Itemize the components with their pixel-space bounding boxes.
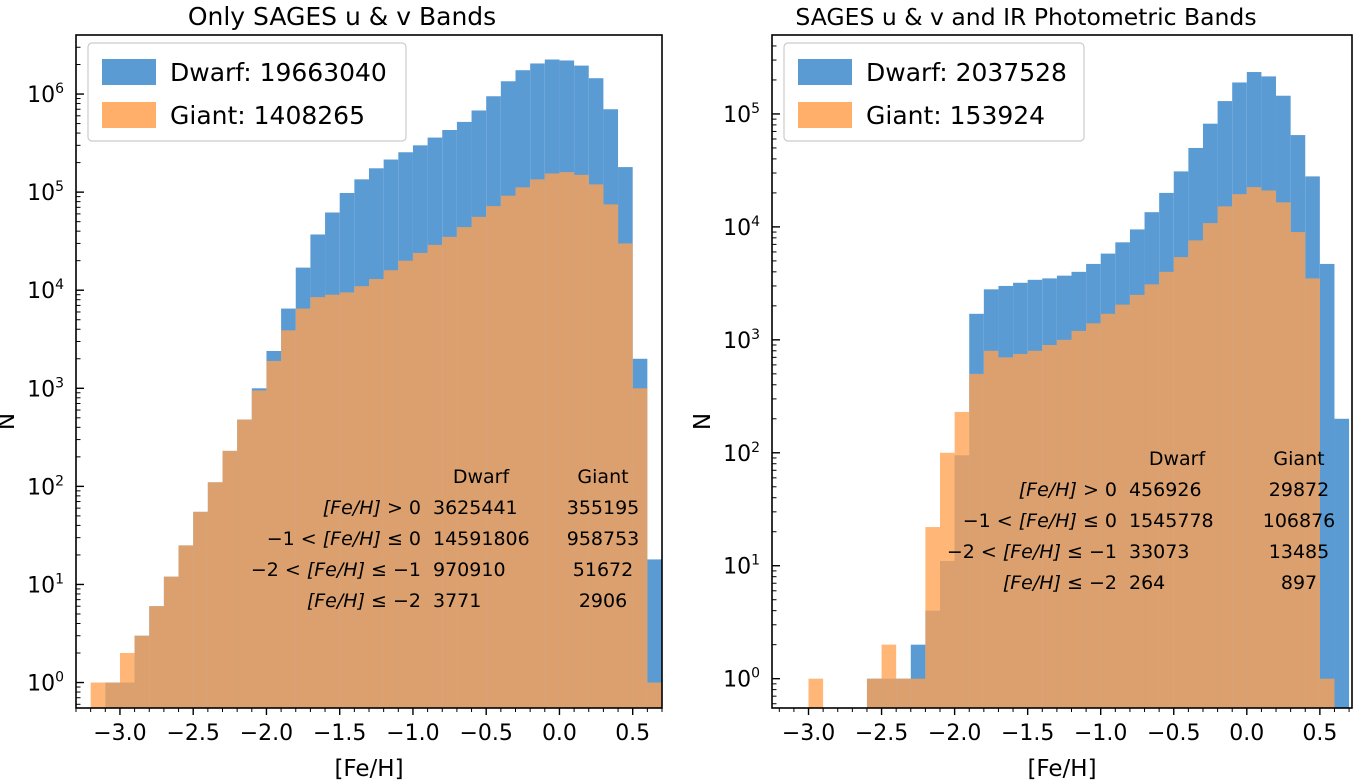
- bar-giant: [545, 173, 560, 708]
- x-axis-label: [Fe/H]: [1027, 756, 1096, 781]
- bar-giant: [896, 679, 911, 708]
- legend-label-giant: Giant: 1408265: [170, 101, 365, 130]
- bar-giant: [1320, 679, 1335, 708]
- bar-giant: [867, 679, 882, 708]
- bar-giant: [237, 420, 252, 708]
- x-tick-label: −1.0: [386, 721, 439, 746]
- legend-label-giant: Giant: 153924: [866, 101, 1045, 130]
- annotation-row-dwarf: 264: [1129, 572, 1165, 594]
- bar-giant: [486, 206, 501, 708]
- x-tick-label: −1.0: [1074, 721, 1127, 746]
- y-tick-label: 102: [723, 440, 760, 467]
- annotation-row-label: [Fe/H] > 0: [323, 497, 421, 519]
- annotation-row-label: [Fe/H] > 0: [1019, 479, 1117, 501]
- y-tick-label: 103: [723, 327, 760, 354]
- legend-label-dwarf: Dwarf: 2037528: [866, 58, 1067, 87]
- annotation-row-label: −1 < [Fe/H] ≤ 0: [267, 528, 421, 550]
- x-tick-label: −2.0: [240, 721, 293, 746]
- y-tick-label: 100: [723, 666, 760, 693]
- bar-giant: [574, 175, 589, 708]
- y-tick-label: 100: [27, 670, 64, 697]
- x-tick-label: −3.0: [93, 721, 146, 746]
- bar-giant: [925, 527, 940, 708]
- bar-giant: [398, 261, 413, 708]
- bar-giant: [516, 187, 531, 708]
- y-axis-label: N: [690, 413, 716, 430]
- figure-container: Only SAGES u & v Bands −3.0−2.5−2.0−1.5−…: [0, 0, 1368, 781]
- annotation-row-label: −2 < [Fe/H] ≤ −1: [251, 559, 421, 581]
- legend[interactable]: Dwarf: 19663040Giant: 1408265: [88, 43, 406, 141]
- y-tick-label: 104: [27, 277, 64, 304]
- annotation-row-dwarf: 1545778: [1129, 510, 1214, 532]
- annotation-row-dwarf: 456926: [1129, 479, 1202, 501]
- annotation-header-dwarf: Dwarf: [453, 466, 511, 488]
- bar-giant: [882, 645, 897, 708]
- panel-right-plot: −3.0−2.5−2.0−1.5−1.0−0.50.00.5[Fe/H]1001…: [684, 0, 1368, 781]
- annotation-row-giant: 29872: [1269, 479, 1329, 501]
- bar-giant: [1130, 295, 1145, 708]
- x-tick-label: −1.5: [1001, 721, 1054, 746]
- x-tick-label: 0.0: [1229, 721, 1264, 746]
- x-tick-label: −2.5: [855, 721, 908, 746]
- legend[interactable]: Dwarf: 2037528Giant: 153924: [784, 43, 1084, 141]
- chart-panel-right: SAGES u & v and IR Photometric Bands −3.…: [684, 0, 1368, 781]
- panel-left-plot: −3.0−2.5−2.0−1.5−1.0−0.50.00.5[Fe/H]1001…: [0, 0, 684, 781]
- x-tick-label: −0.5: [1147, 721, 1200, 746]
- annotation-row-dwarf: 3771: [433, 590, 481, 612]
- legend-swatch-dwarf: [102, 59, 156, 85]
- legend-swatch-giant: [798, 102, 852, 128]
- y-tick-label: 106: [27, 81, 64, 108]
- bar-giant: [1232, 194, 1247, 708]
- bar-giant: [296, 309, 311, 708]
- y-tick-label: 103: [27, 375, 64, 402]
- histogram-bars: [809, 72, 1350, 708]
- legend-swatch-giant: [102, 102, 156, 128]
- bar-giant: [472, 217, 487, 708]
- chart-panel-left: Only SAGES u & v Bands −3.0−2.5−2.0−1.5−…: [0, 0, 684, 781]
- y-tick-label: 105: [723, 101, 760, 128]
- bar-giant: [193, 512, 208, 708]
- annotation-header-giant: Giant: [1273, 448, 1324, 470]
- annotation-header-giant: Giant: [577, 466, 628, 488]
- bar-giant: [603, 204, 618, 708]
- bar-giant: [149, 606, 164, 708]
- x-axis-ticks: −3.0−2.5−2.0−1.5−1.0−0.50.00.5: [779, 708, 1349, 746]
- bar-giant: [164, 577, 179, 708]
- bar-giant: [179, 545, 194, 708]
- y-tick-label: 104: [723, 214, 760, 241]
- annotation-row-giant: 51672: [573, 559, 633, 581]
- annotation-row-label: −1 < [Fe/H] ≤ 0: [963, 510, 1117, 532]
- y-tick-label: 101: [723, 553, 760, 580]
- bar-giant: [911, 679, 926, 708]
- bar-giant: [530, 179, 545, 708]
- bar-giant: [589, 184, 604, 708]
- bar-giant: [1188, 240, 1203, 708]
- x-tick-label: −0.5: [459, 721, 512, 746]
- annotation-row-label: [Fe/H] ≤ −2: [1003, 572, 1117, 594]
- y-tick-label: 102: [27, 473, 64, 500]
- legend-swatch-dwarf: [798, 59, 852, 85]
- bar-giant: [1247, 187, 1262, 708]
- x-axis-label: [Fe/H]: [334, 756, 403, 781]
- bar-giant: [252, 390, 267, 708]
- bar-giant: [501, 196, 516, 708]
- bar-giant: [223, 451, 238, 708]
- bar-giant: [413, 253, 428, 708]
- annotation-row-dwarf: 3625441: [433, 497, 518, 519]
- bar-dwarf: [1334, 419, 1349, 708]
- bar-giant: [1115, 305, 1130, 708]
- legend-label-dwarf: Dwarf: 19663040: [170, 58, 387, 87]
- annotation-header-dwarf: Dwarf: [1149, 448, 1207, 470]
- annotation-row-dwarf: 33073: [1129, 541, 1189, 563]
- x-tick-label: −2.5: [166, 721, 219, 746]
- x-tick-label: 0.0: [542, 721, 577, 746]
- x-tick-label: −3.0: [782, 721, 835, 746]
- bar-giant: [135, 636, 150, 708]
- bar-giant: [384, 270, 399, 708]
- annotation-row-dwarf: 970910: [433, 559, 506, 581]
- x-tick-label: 0.5: [615, 721, 650, 746]
- bar-giant: [105, 683, 120, 708]
- bar-giant: [369, 279, 384, 708]
- bar-giant: [1218, 206, 1233, 708]
- annotation-row-dwarf: 14591806: [433, 528, 530, 550]
- bar-giant: [208, 482, 223, 708]
- bar-giant: [428, 245, 443, 708]
- y-tick-label: 105: [27, 179, 64, 206]
- bar-giant: [120, 653, 135, 708]
- y-axis-label: N: [0, 413, 20, 430]
- annotation-row-giant: 106876: [1263, 510, 1336, 532]
- annotation-row-giant: 2906: [579, 590, 627, 612]
- x-axis-ticks: −3.0−2.5−2.0−1.5−1.0−0.50.00.5: [76, 708, 662, 746]
- bar-giant: [1291, 232, 1306, 708]
- x-tick-label: −2.0: [928, 721, 981, 746]
- bar-giant: [281, 330, 296, 708]
- annotation-row-giant: 958753: [567, 528, 640, 550]
- series-giant-bars: [809, 187, 1335, 708]
- bar-giant: [998, 357, 1013, 708]
- annotation-row-label: −2 < [Fe/H] ≤ −1: [947, 541, 1117, 563]
- bar-giant: [647, 683, 662, 708]
- bar-giant: [559, 172, 574, 708]
- y-tick-label: 101: [27, 571, 64, 598]
- x-tick-label: −1.5: [313, 721, 366, 746]
- bar-giant: [91, 683, 106, 708]
- annotation-row-label: [Fe/H] ≤ −2: [307, 590, 421, 612]
- bar-giant: [809, 679, 824, 708]
- bar-giant: [940, 453, 955, 708]
- annotation-row-giant: 13485: [1269, 541, 1329, 563]
- annotation-row-giant: 897: [1281, 572, 1317, 594]
- x-tick-label: 0.5: [1302, 721, 1337, 746]
- annotation-row-giant: 355195: [567, 497, 640, 519]
